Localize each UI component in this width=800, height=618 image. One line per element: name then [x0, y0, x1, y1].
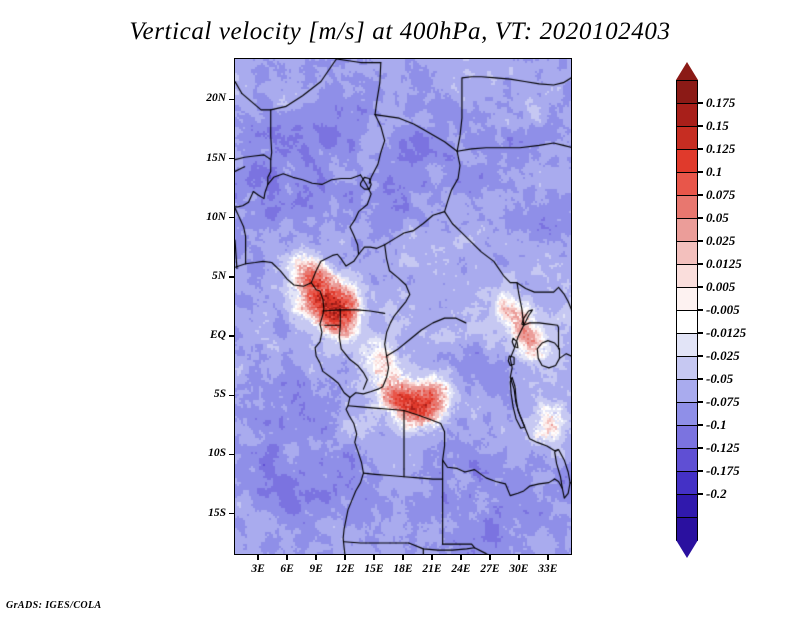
- colorbar-label: -0.2: [706, 486, 727, 502]
- colorbar-label: -0.05: [706, 371, 733, 387]
- y-axis-label: 10N: [178, 211, 226, 223]
- colorbar-label: 0.125: [706, 141, 735, 157]
- colorbar-band: [676, 126, 698, 150]
- colorbar-band: [676, 149, 698, 173]
- colorbar-tick: [698, 332, 703, 333]
- x-axis-tick: [315, 555, 316, 560]
- colorbar-label: -0.025: [706, 348, 740, 364]
- x-axis-tick: [547, 555, 548, 560]
- colorbar-label: 0.0125: [706, 256, 742, 272]
- colorbar-band: [676, 425, 698, 449]
- colorbar-band: [676, 310, 698, 334]
- page-title: Vertical velocity [m/s] at 400hPa, VT: 2…: [0, 18, 800, 46]
- colorbar-band: [676, 471, 698, 495]
- colorbar-tick: [698, 378, 703, 379]
- y-axis-tick: [229, 99, 234, 100]
- colorbar: 0.1750.150.1250.10.0750.050.0250.01250.0…: [676, 62, 698, 558]
- x-axis-tick: [518, 555, 519, 560]
- y-axis-label: 5N: [178, 270, 226, 282]
- colorbar-tick: [698, 401, 703, 402]
- colorbar-band: [676, 172, 698, 196]
- y-axis-tick: [229, 276, 234, 277]
- y-axis-tick: [229, 158, 234, 159]
- y-axis-tick: [229, 395, 234, 396]
- colorbar-tick: [698, 447, 703, 448]
- attribution-footer: GrADS: IGES/COLA: [6, 600, 102, 611]
- colorbar-tick: [698, 424, 703, 425]
- y-axis-tick: [229, 513, 234, 514]
- colorbar-band: [676, 356, 698, 380]
- y-axis-label: 10S: [178, 447, 226, 459]
- colorbar-tick: [698, 125, 703, 126]
- map-boundaries-overlay: [235, 59, 572, 555]
- x-axis-tick: [286, 555, 287, 560]
- y-axis-label: 5S: [178, 388, 226, 400]
- colorbar-band: [676, 195, 698, 219]
- map-plot-area: [234, 58, 572, 555]
- colorbar-tick: [698, 263, 703, 264]
- colorbar-label: 0.1: [706, 164, 722, 180]
- colorbar-label: -0.075: [706, 394, 740, 410]
- y-axis-label: EQ: [178, 329, 226, 341]
- colorbar-band: [676, 264, 698, 288]
- colorbar-label: 0.05: [706, 210, 729, 226]
- colorbar-label: -0.0125: [706, 325, 746, 341]
- colorbar-band: [676, 333, 698, 357]
- colorbar-cap-top: [676, 62, 698, 80]
- x-axis-tick: [373, 555, 374, 560]
- colorbar-band: [676, 379, 698, 403]
- colorbar-label: -0.125: [706, 440, 740, 456]
- x-axis-tick: [489, 555, 490, 560]
- y-axis-label: 20N: [178, 92, 226, 104]
- x-axis-tick: [431, 555, 432, 560]
- x-axis-tick: [402, 555, 403, 560]
- colorbar-band: [676, 494, 698, 518]
- colorbar-band: [676, 80, 698, 104]
- colorbar-band: [676, 517, 698, 541]
- colorbar-band: [676, 402, 698, 426]
- x-axis-tick: [257, 555, 258, 560]
- x-axis-tick: [460, 555, 461, 560]
- colorbar-band: [676, 103, 698, 127]
- x-axis-tick: [344, 555, 345, 560]
- colorbar-tick: [698, 240, 703, 241]
- colorbar-tick: [698, 217, 703, 218]
- x-axis-label: 33E: [528, 563, 568, 575]
- colorbar-tick: [698, 148, 703, 149]
- colorbar-label: -0.1: [706, 417, 727, 433]
- colorbar-tick: [698, 171, 703, 172]
- colorbar-tick: [698, 309, 703, 310]
- colorbar-label: -0.005: [706, 302, 740, 318]
- colorbar-label: -0.175: [706, 463, 740, 479]
- y-axis-label: 15N: [178, 152, 226, 164]
- colorbar-tick: [698, 470, 703, 471]
- colorbar-tick: [698, 194, 703, 195]
- colorbar-tick: [698, 102, 703, 103]
- colorbar-label: 0.025: [706, 233, 735, 249]
- colorbar-band: [676, 287, 698, 311]
- colorbar-tick: [698, 493, 703, 494]
- y-axis-tick: [229, 335, 234, 336]
- y-axis-label: 15S: [178, 507, 226, 519]
- colorbar-label: 0.175: [706, 95, 735, 111]
- colorbar-tick: [698, 355, 703, 356]
- colorbar-band: [676, 448, 698, 472]
- y-axis-tick: [229, 217, 234, 218]
- colorbar-label: 0.005: [706, 279, 735, 295]
- colorbar-label: 0.075: [706, 187, 735, 203]
- colorbar-tick: [698, 286, 703, 287]
- colorbar-band: [676, 218, 698, 242]
- colorbar-label: 0.15: [706, 118, 729, 134]
- grads-plot-page: Vertical velocity [m/s] at 400hPa, VT: 2…: [0, 0, 800, 618]
- colorbar-cap-bottom: [676, 540, 698, 558]
- y-axis-tick: [229, 454, 234, 455]
- colorbar-band: [676, 241, 698, 265]
